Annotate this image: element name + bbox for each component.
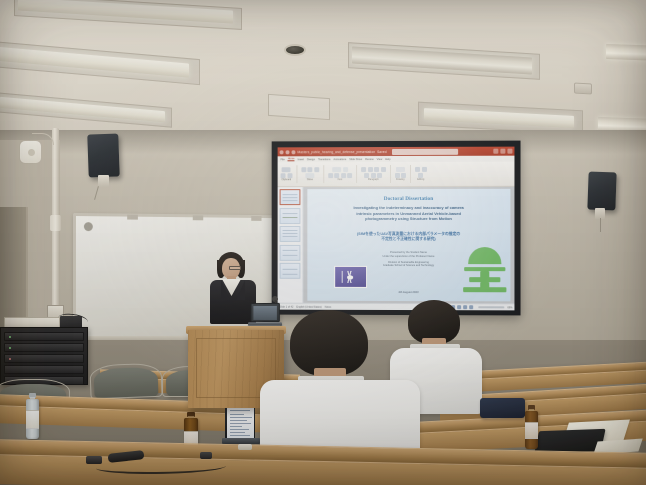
- ribbon-tab[interactable]: View: [377, 158, 383, 161]
- ceiling-light-fixture: [606, 44, 646, 61]
- bottle-label: [26, 410, 39, 428]
- ceiling-air-vent: [574, 83, 592, 95]
- ribbon-tab[interactable]: Animations: [333, 158, 346, 161]
- slide-thumbnail-panel[interactable]: [278, 187, 304, 303]
- av-rack-unit: [4, 354, 84, 363]
- slide-subtitle: Investigating the indeterminacy and inac…: [324, 205, 494, 221]
- ribbon-tab[interactable]: Home: [288, 157, 295, 161]
- ribbon-group-drawing[interactable]: Drawing: [395, 167, 406, 181]
- navy-backpack: [480, 398, 525, 418]
- logo-bar: [463, 287, 506, 292]
- ceiling-light-frame: [0, 41, 200, 85]
- desk-small-item: [86, 456, 102, 464]
- save-icon[interactable]: [286, 150, 290, 154]
- whiteboard-clip: [193, 215, 203, 220]
- av-rack-unit: [4, 343, 84, 352]
- ribbon-group-font[interactable]: Font: [328, 167, 352, 181]
- ribbon-separator: [296, 165, 297, 183]
- slide-japanese-title: (SfMを使ったUAV写真測量における内部パラメータの推定の 不定性と不正確性に…: [320, 232, 498, 242]
- av-equipment-rack: [0, 327, 88, 385]
- title-slide: Doctoral Dissertation Investigating the …: [308, 189, 511, 301]
- slide-subtitle-line-3: photogrammetry using Structure from Moti…: [324, 216, 494, 221]
- chair-backrest: [89, 363, 162, 399]
- logo-dome: [468, 247, 501, 264]
- slide-editing-stage[interactable]: Doctoral Dissertation Investigating the …: [303, 187, 514, 304]
- ribbon-tab[interactable]: Help: [385, 158, 390, 161]
- conduit-joint: [50, 215, 61, 231]
- slide-thumbnail[interactable]: [280, 244, 301, 260]
- ribbon-separator: [390, 165, 391, 183]
- slide-title: Doctoral Dissertation: [308, 196, 511, 202]
- ribbon-tab[interactable]: File: [281, 158, 285, 161]
- ribbon-separator: [410, 165, 411, 183]
- ribbon-separator: [323, 165, 324, 183]
- ribbon-group-label: Paragraph: [368, 179, 379, 181]
- notes-button[interactable]: Notes: [325, 305, 331, 308]
- ribbon-group-label: Font: [338, 179, 343, 181]
- ribbon-group-slides[interactable]: Slides: [301, 167, 319, 181]
- laptop-lid: [225, 405, 255, 439]
- wall-speaker-left: [87, 133, 119, 177]
- university-logo-icon: [462, 247, 506, 293]
- projection-screen: Masters_public_hearing_and_defense_prese…: [272, 141, 521, 316]
- water-bottle: [26, 393, 39, 439]
- doorway: [0, 207, 28, 327]
- ppt-save-state: Saved: [377, 150, 387, 154]
- av-rack-unit: [4, 365, 84, 374]
- language-indicator[interactable]: English (United States): [296, 305, 321, 308]
- whiteboard-clip: [251, 216, 261, 221]
- ceiling-access-panel: [268, 94, 330, 120]
- ribbon-tab[interactable]: Insert: [298, 158, 304, 161]
- slide-thumbnail[interactable]: [280, 263, 301, 279]
- ribbon-group-label: Clipboard: [281, 179, 291, 181]
- zoom-level[interactable]: 66%: [507, 306, 512, 309]
- ribbon-group-label: Editing: [417, 179, 424, 181]
- undo-icon[interactable]: [291, 150, 295, 154]
- ppt-filename: Masters_public_hearing_and_defense_prese…: [297, 150, 375, 154]
- laptop-screen: [227, 407, 254, 438]
- ribbon-group-label: Drawing: [396, 179, 404, 181]
- wall-speaker-right: [587, 172, 616, 211]
- ribbon-tab[interactable]: Transitions: [318, 158, 331, 161]
- ceiling-light-frame: [348, 42, 540, 80]
- university-crest-icon: [334, 266, 367, 288]
- ribbon-tab[interactable]: Design: [307, 158, 315, 161]
- ribbon-tab[interactable]: Review: [365, 158, 373, 161]
- speaker-mount: [98, 175, 109, 187]
- eyeglasses-icon: [229, 266, 241, 270]
- ribbon-group-paragraph[interactable]: Paragraph: [361, 167, 385, 181]
- desk-small-item: [200, 452, 212, 459]
- close-button[interactable]: [507, 149, 512, 154]
- attendee-laptop[interactable]: [225, 405, 257, 447]
- bottle-label: [525, 422, 538, 440]
- slide-thumbnail[interactable]: [280, 226, 301, 242]
- ppt-ribbon: Clipboard Slides Font: [278, 162, 515, 187]
- lecture-hall-photo: Masters_public_hearing_and_defense_prese…: [0, 0, 646, 485]
- powerpoint-window: Masters_public_hearing_and_defense_prese…: [278, 147, 515, 311]
- ribbon-tab[interactable]: Slide Show: [349, 158, 362, 161]
- ribbon-separator: [356, 165, 357, 183]
- ceiling-light-frame: [0, 92, 172, 127]
- audience-head: [290, 310, 368, 376]
- smoke-detector-icon: [284, 44, 306, 56]
- crest-mark: [340, 271, 360, 283]
- whiteboard-clip: [127, 215, 138, 220]
- whiteboard-magnet: [84, 222, 93, 231]
- ribbon-group-clipboard[interactable]: Clipboard: [281, 167, 292, 181]
- speaker-cable: [600, 218, 601, 232]
- ribbon-group-label: Slides: [307, 179, 313, 181]
- av-rack-unit: [4, 332, 84, 341]
- window-controls: [493, 149, 512, 154]
- slide-thumbnail[interactable]: [280, 208, 301, 224]
- ribbon-group-editing[interactable]: Editing: [415, 167, 427, 181]
- ppt-search-box[interactable]: [392, 148, 458, 154]
- tea-bottle: [525, 405, 538, 449]
- ceiling-light-frame: [14, 0, 242, 30]
- autosave-icon[interactable]: [280, 150, 284, 154]
- wifi-access-point-icon: [19, 140, 42, 164]
- desk-small-item: [238, 444, 252, 450]
- restore-button[interactable]: [500, 149, 505, 154]
- slide-japanese-line-2: 不定性と不正確性に関する研究): [320, 237, 498, 242]
- minimize-button[interactable]: [493, 149, 498, 154]
- slide-thumbnail[interactable]: [280, 189, 301, 205]
- logo-bar: [469, 277, 500, 282]
